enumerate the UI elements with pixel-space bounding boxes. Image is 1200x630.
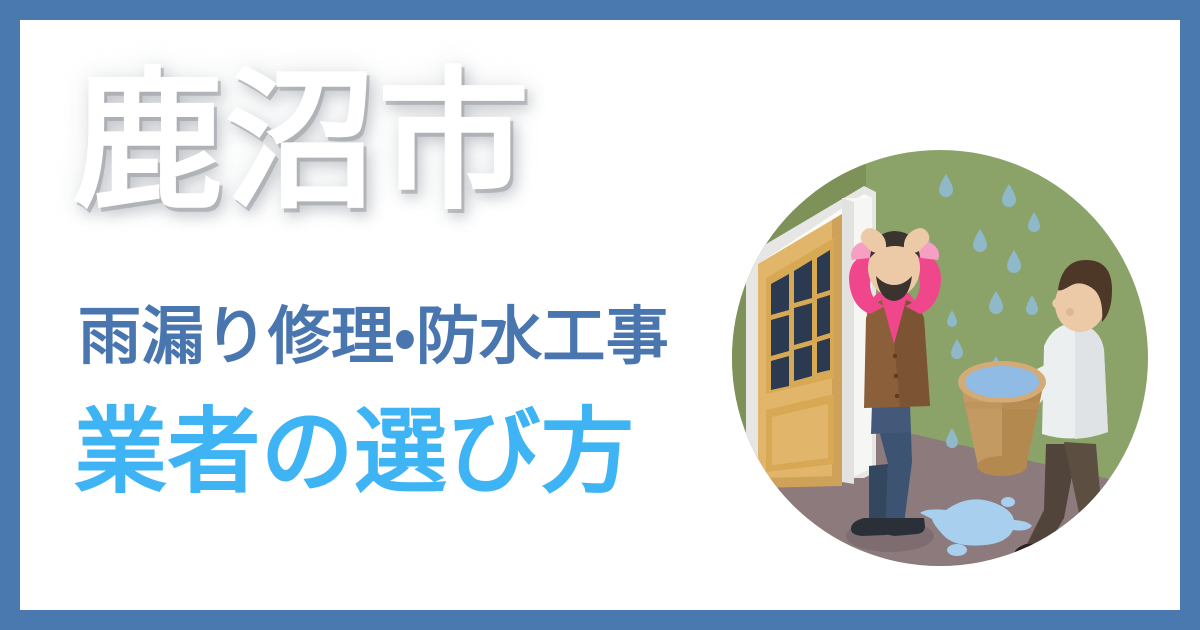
shoe-right — [882, 518, 925, 536]
illustration-roof-leak — [714, 132, 1166, 584]
scene-clip-group — [714, 132, 1166, 584]
banner-card: 鹿沼市 雨漏り修理・防水工事 業者の選び方 — [20, 20, 1180, 610]
page-title: 鹿沼市 — [72, 66, 732, 218]
banner-root: 鹿沼市 雨漏り修理・防水工事 業者の選び方 — [0, 0, 1200, 630]
headline-group: 鹿沼市 雨漏り修理・防水工事 業者の選び方 — [72, 66, 732, 566]
shoe-front — [1070, 555, 1113, 574]
jeans-right — [869, 464, 888, 524]
bucket-water — [965, 366, 1039, 398]
wooden-glass-door — [746, 186, 876, 488]
subtitle-service: 雨漏り修理・防水工事 — [78, 306, 758, 369]
subtitle-howto: 業者の選び方 — [74, 406, 754, 499]
